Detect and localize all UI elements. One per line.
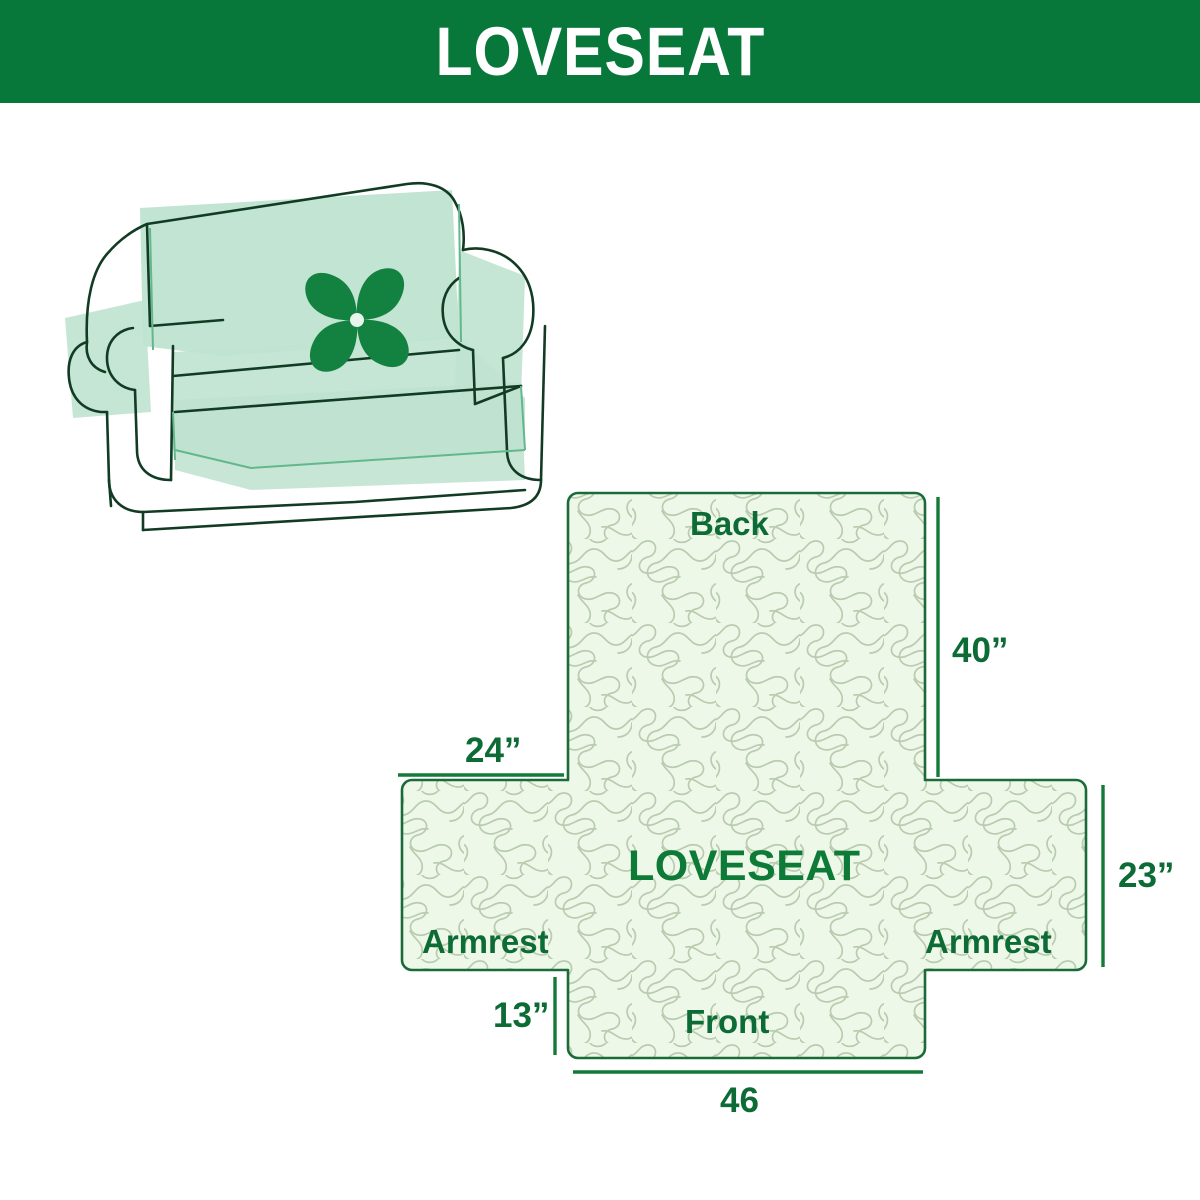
dimension-label-46: 46 [720, 1083, 759, 1118]
panel-label-armrest-left: Armrest [422, 925, 549, 958]
page-title: LOVESEAT [435, 17, 765, 86]
product-dimension-diagram: LOVESEAT [0, 0, 1200, 1200]
panel-label-armrest-right: Armrest [925, 925, 1052, 958]
dimension-label-40: 40” [952, 633, 1008, 668]
dimension-label-13: 13” [493, 998, 549, 1033]
dimension-label-23: 23” [1118, 858, 1174, 893]
dimension-label-24: 24” [465, 733, 521, 768]
panel-label-front: Front [685, 1005, 769, 1038]
header-banner: LOVESEAT [0, 0, 1200, 103]
fabric-layout-diagram: Back Armrest Armrest Front LOVESEAT 40” … [380, 455, 1200, 1155]
panel-label-back: Back [690, 507, 769, 540]
diagram-center-label: LOVESEAT [628, 845, 861, 888]
